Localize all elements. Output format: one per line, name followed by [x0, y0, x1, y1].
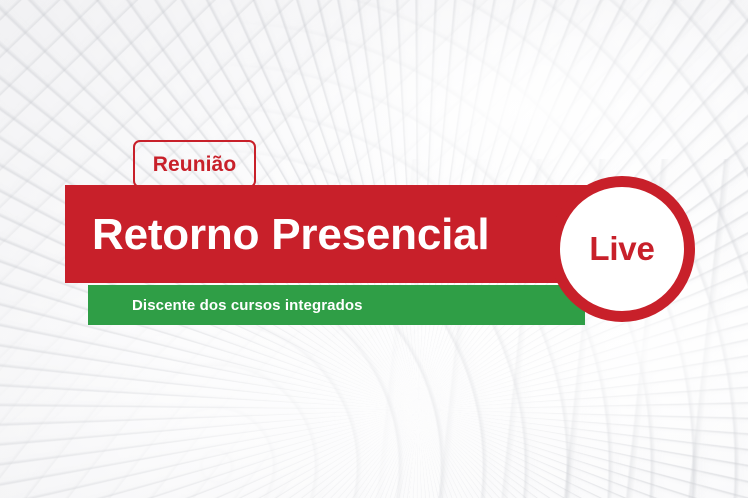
live-badge: Live	[549, 176, 695, 322]
event-banner: Reunião Retorno Presencial Discente dos …	[0, 0, 748, 498]
meeting-tag: Reunião	[133, 140, 256, 188]
subtitle-text: Discente dos cursos integrados	[132, 285, 363, 325]
meeting-tag-label: Reunião	[153, 154, 237, 175]
headline-title: Retorno Presencial	[92, 205, 562, 265]
live-badge-label: Live	[589, 232, 654, 265]
